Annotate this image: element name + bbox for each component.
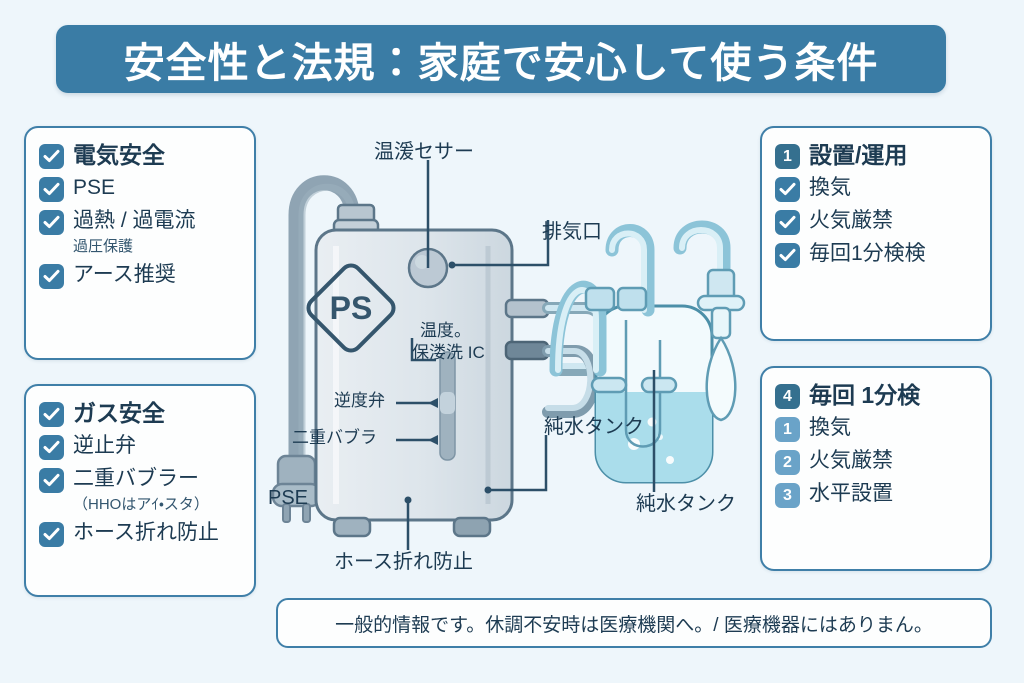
device-diagram: PS [256,120,776,590]
list-item-sublabel: （HHOはアｲ・スタ） [73,495,242,515]
list-item-label: 換気 [809,414,851,442]
list-item[interactable]: アース推奨 [39,261,242,289]
gas-item-list: ガス安全 逆止弁 二重バブラー （HHOはアｲ・スタ） ホース折れ防止 [39,399,242,547]
number-badge-icon: 1 [775,417,800,442]
list-item[interactable]: 3 水平設置 [775,480,978,508]
check-icon [39,522,64,547]
install-item-list: 1 設置/運用 換気 火気厳禁 毎回1分検検 [775,141,978,268]
list-item-label: 火気厳禁 [809,447,893,475]
check-icon [39,402,64,427]
label-double-bubbler: 二重バブラ [292,427,377,449]
list-item[interactable]: 毎回1分検検 [775,240,978,268]
list-item-label: 逆止弁 [73,432,136,460]
card-daily-check: 4 毎回 1分検 1 換気 2 火気厳禁 3 水平設置 [760,366,992,571]
list-item[interactable]: 火気厳禁 [775,207,978,235]
label-exhaust-port: 排気口 [542,220,602,244]
list-item-label: ガス安全 [73,399,165,427]
card-installation: 1 設置/運用 換気 火気厳禁 毎回1分検検 [760,126,992,341]
label-controller-ic-line1: 温度。 [420,320,471,342]
list-item[interactable]: 1 設置/運用 [775,141,978,169]
list-item[interactable]: ホース折れ防止 [39,519,242,547]
list-item[interactable]: 過熱 / 過電流 [39,207,242,235]
page-title-bar: 安全性と法規：家庭で安心して使う条件 [56,25,946,93]
list-item-label: アース推奨 [73,261,176,289]
list-item-label: 電気安全 [73,141,165,169]
label-check-valve: 逆度弁 [334,390,385,412]
list-item[interactable]: 換気 [775,174,978,202]
device-illustration: PS [256,120,776,590]
list-item-label: 設置/運用 [809,141,907,169]
list-item[interactable]: 2 火気厳禁 [775,447,978,475]
card-electrical-safety: 電気安全 PSE 過熱 / 過電流 過圧保護 アース推奨 [24,126,256,360]
label-hose-kink-prevention: ホース折れ防止 [334,550,473,574]
disclaimer-text: 一般的情報です。休調不安時は医療機関へ。/ 医療機器にはありまん。 [335,610,933,637]
check-icon [775,210,800,235]
label-temperature-sensor: 温湲セサー [374,140,474,164]
number-badge-icon: 4 [775,384,800,409]
svg-text:PS: PS [330,290,373,326]
list-item-label: PSE [73,174,115,202]
list-item-label: 過熱 / 過電流 [73,207,196,235]
check-icon [39,468,64,493]
check-icon [39,144,64,169]
list-item[interactable]: 逆止弁 [39,432,242,460]
disclaimer-banner: 一般的情報です。休調不安時は医療機関へ。/ 医療機器にはありまん。 [276,598,992,648]
check-icon [775,243,800,268]
check-icon [39,435,64,460]
label-controller-ic-line2: 保溇洗 IC [412,342,485,364]
list-item-label: 換気 [809,174,851,202]
card-gas-safety: ガス安全 逆止弁 二重バブラー （HHOはアｲ・スタ） ホース折れ防止 [24,384,256,597]
check-icon [39,210,64,235]
list-item[interactable]: 電気安全 [39,141,242,169]
list-item[interactable]: 1 換気 [775,414,978,442]
number-badge-icon: 2 [775,450,800,475]
list-item-label: ホース折れ防止 [73,519,219,547]
list-item[interactable]: ガス安全 [39,399,242,427]
list-item-sublabel: 過圧保護 [73,237,242,257]
list-item[interactable]: 二重バブラー [39,465,242,493]
list-item-label: 毎回1分検検 [809,240,926,268]
label-pure-water-tank-device: 純水タンク [544,415,644,439]
list-item-label: 毎回 1分検 [809,381,920,409]
number-badge-icon: 1 [775,144,800,169]
check-icon [775,177,800,202]
label-pse-plug: PSE [268,486,308,510]
list-item-label: 火気厳禁 [809,207,893,235]
label-pure-water-tank-bubbler: 純水タンク [636,492,736,516]
list-item[interactable]: 4 毎回 1分検 [775,381,978,409]
list-item-label: 水平設置 [809,480,893,508]
check-item-list: 4 毎回 1分検 1 換気 2 火気厳禁 3 水平設置 [775,381,978,508]
check-icon [39,264,64,289]
page-title: 安全性と法規：家庭で安心して使う条件 [124,29,879,89]
infographic-canvas: 安全性と法規：家庭で安心して使う条件 電気安全 PSE 過熱 / 過電流 過圧保… [0,0,1024,683]
check-icon [39,177,64,202]
list-item-label: 二重バブラー [73,465,199,493]
electrical-item-list: 電気安全 PSE 過熱 / 過電流 過圧保護 アース推奨 [39,141,242,289]
list-item[interactable]: PSE [39,174,242,202]
number-badge-icon: 3 [775,483,800,508]
